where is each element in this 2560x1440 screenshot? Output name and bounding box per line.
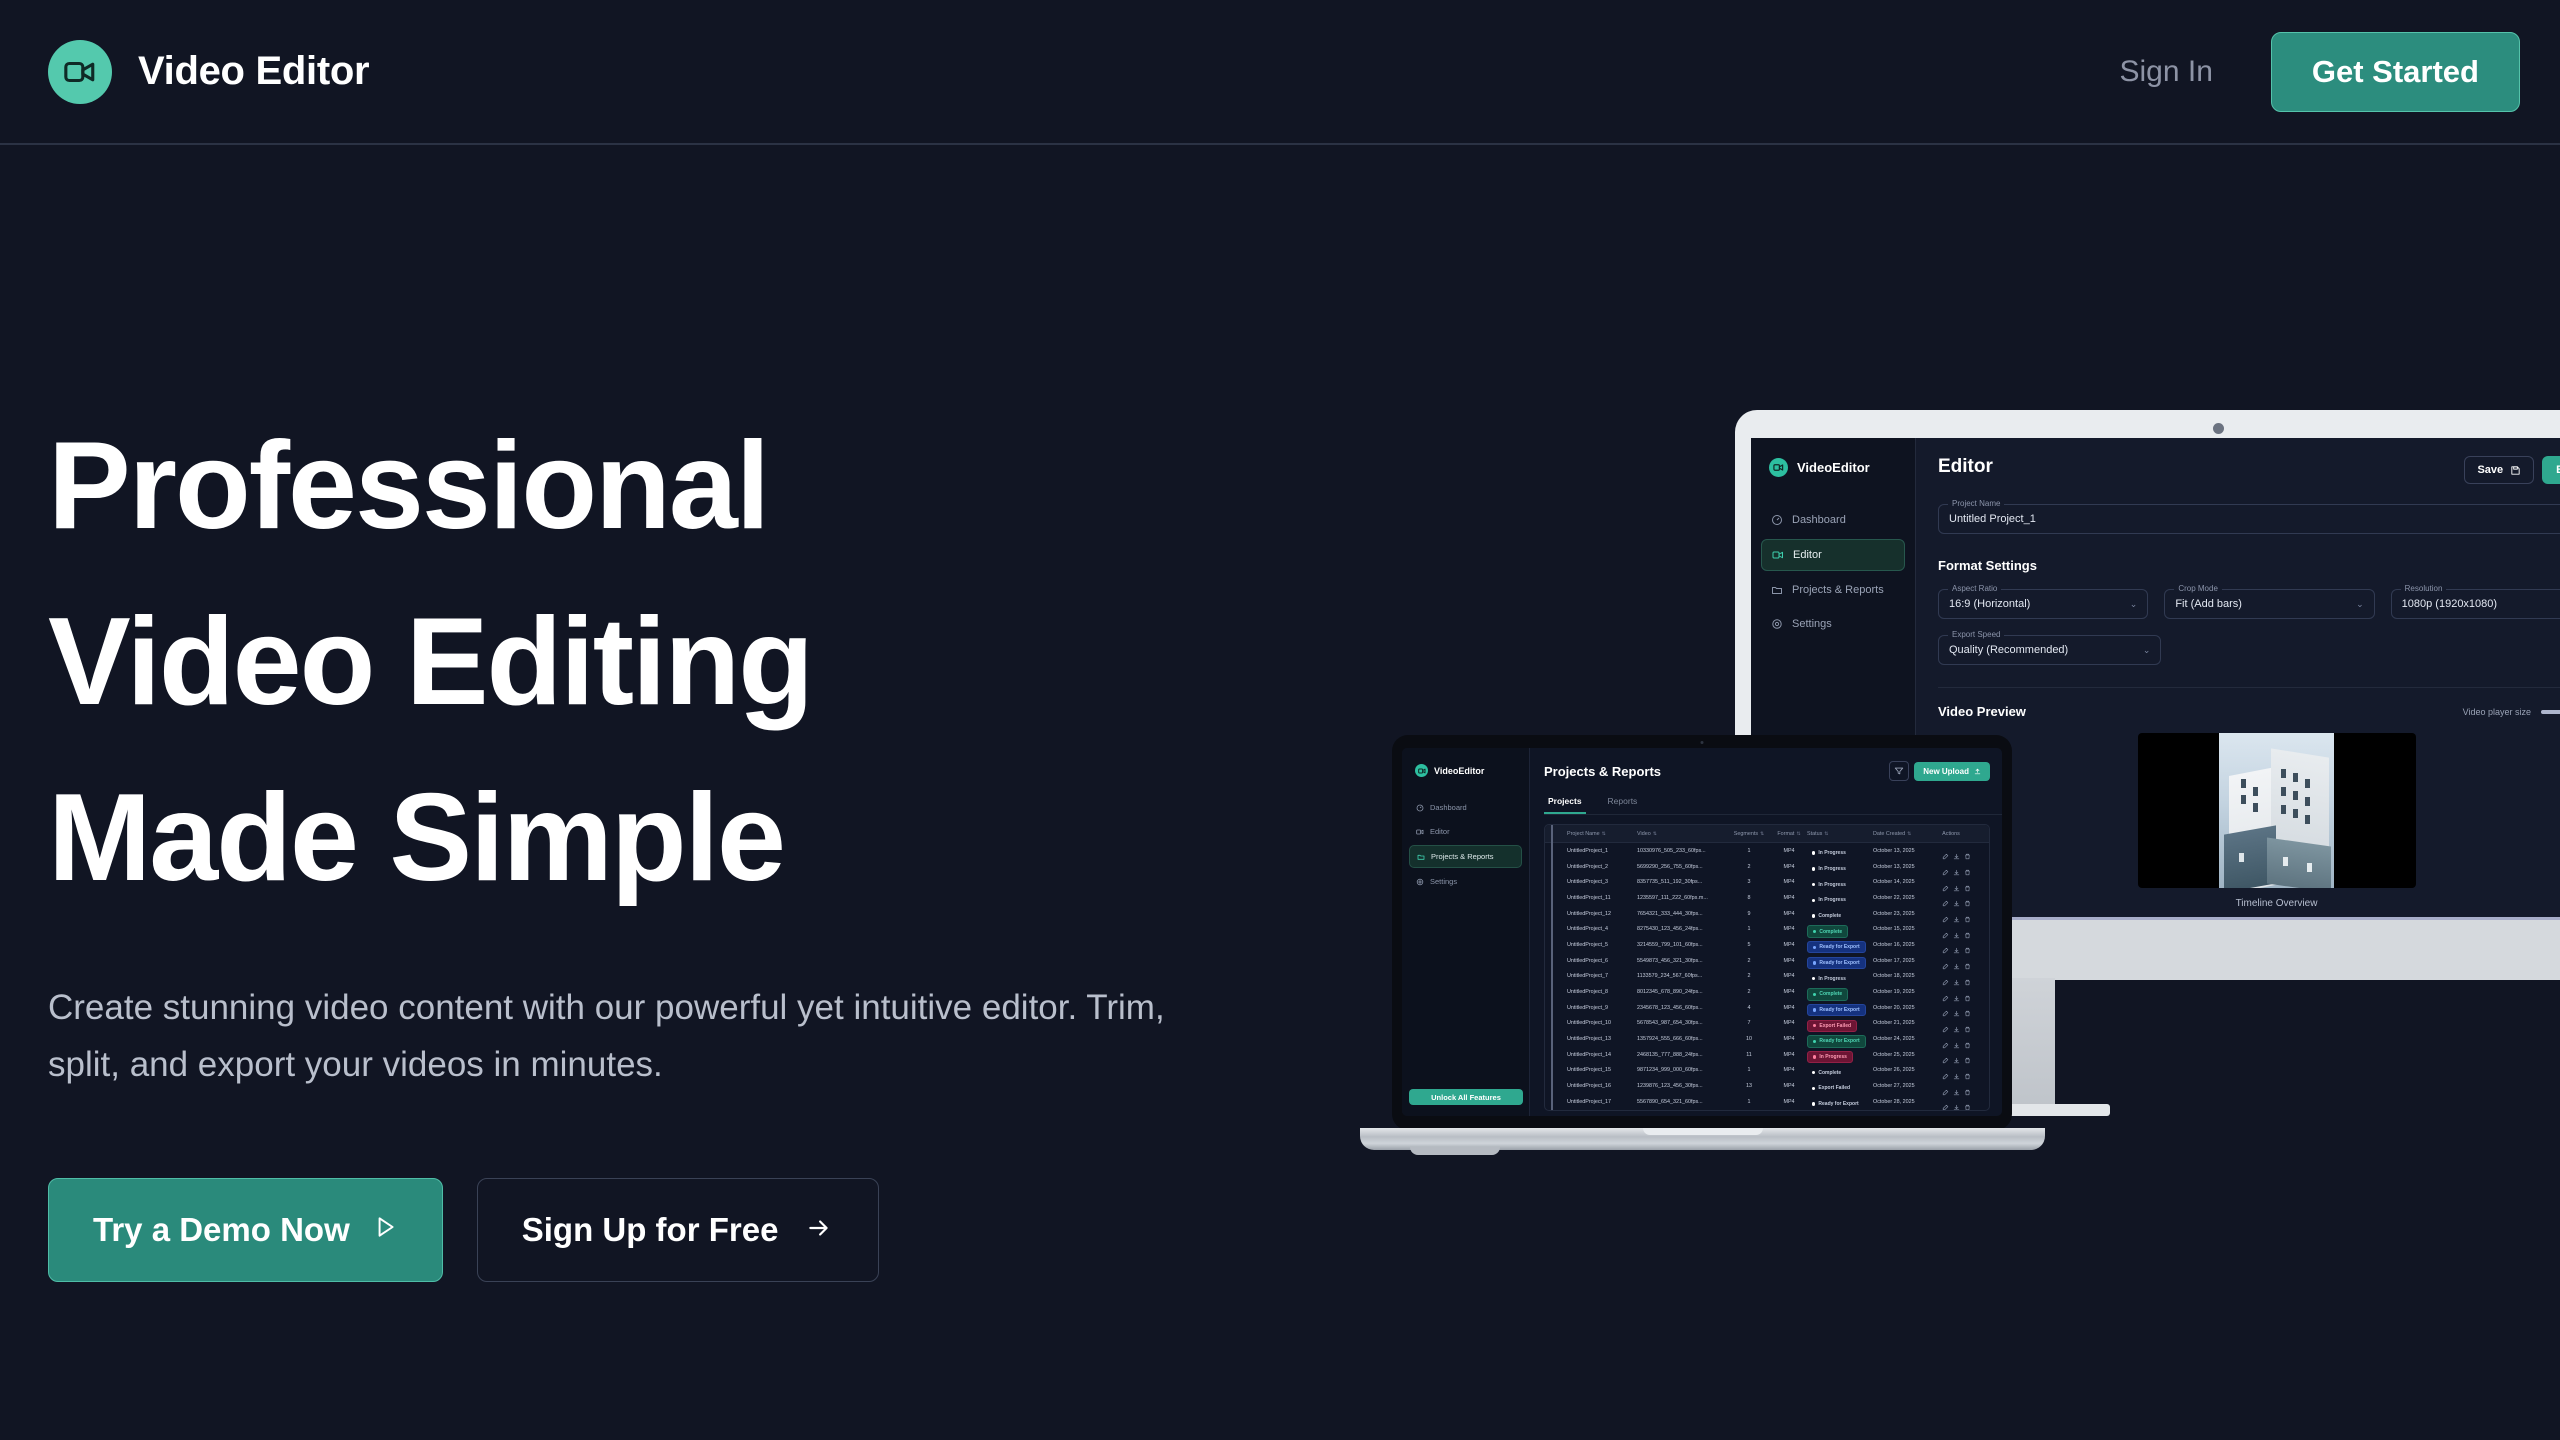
gauge-icon — [1416, 804, 1424, 812]
sidebar-label: Settings — [1792, 618, 1832, 630]
trash-icon[interactable] — [1964, 957, 1971, 964]
cell-actions — [1931, 926, 1971, 933]
aspect-ratio-select[interactable]: Aspect Ratio 16:9 (Horizontal) ⌄ — [1938, 589, 2148, 619]
chevron-down-icon: ⌄ — [2356, 599, 2364, 610]
sidebar-label: Editor — [1430, 827, 1450, 836]
cell-actions — [1931, 1083, 1971, 1090]
cell-format: MP4 — [1771, 989, 1807, 995]
table-row[interactable]: UntitledProject_111235597_111_222_60fps.… — [1545, 890, 1989, 906]
edit-icon[interactable] — [1942, 989, 1949, 996]
cell-date-created: October 27, 2025 — [1873, 1083, 1931, 1089]
edit-icon[interactable] — [1942, 863, 1949, 870]
new-upload-button[interactable]: New Upload — [1914, 762, 1990, 781]
trash-icon[interactable] — [1964, 973, 1971, 980]
trash-icon[interactable] — [1964, 879, 1971, 886]
table-row[interactable]: UntitledProject_38357735_511_192_30fps..… — [1545, 874, 1989, 890]
laptop-sidebar: VideoEditor Dashboard Editor — [1402, 748, 1530, 1116]
cell-format: MP4 — [1771, 1036, 1807, 1042]
edit-icon[interactable] — [1942, 847, 1949, 854]
edit-icon[interactable] — [1942, 894, 1949, 901]
sidebar-item-projects-reports[interactable]: Projects & Reports — [1409, 845, 1522, 868]
cell-segments: 13 — [1727, 1083, 1771, 1089]
cell-project-name: UntitledProject_1 — [1567, 848, 1637, 854]
trash-icon[interactable] — [1964, 1083, 1971, 1090]
cell-actions — [1931, 1098, 1971, 1105]
trash-icon[interactable] — [1964, 941, 1971, 948]
sort-icon[interactable]: ⇅ — [1760, 831, 1764, 837]
laptop-notch — [1667, 738, 1737, 747]
download-icon[interactable] — [1953, 863, 1960, 870]
cell-format: MP4 — [1771, 942, 1807, 948]
tab-reports[interactable]: Reports — [1604, 791, 1642, 814]
edit-icon[interactable] — [1942, 957, 1949, 964]
cell-project-name: UntitledProject_2 — [1567, 864, 1637, 870]
save-button[interactable]: Save — [2464, 456, 2534, 484]
sort-icon[interactable]: ⇅ — [1653, 831, 1657, 837]
sidebar-item-settings[interactable]: Settings — [1761, 609, 1905, 639]
cell-segments: 2 — [1727, 989, 1771, 995]
video-player[interactable] — [2138, 733, 2416, 888]
cell-format: MP4 — [1771, 848, 1807, 854]
cell-format: MP4 — [1771, 973, 1807, 979]
cell-format: MP4 — [1771, 1005, 1807, 1011]
cell-video: 1239876_123_456_30fps... — [1637, 1083, 1727, 1089]
download-icon[interactable] — [1953, 926, 1960, 933]
cell-project-name: UntitledProject_14 — [1567, 1052, 1637, 1058]
save-label: Save — [2477, 464, 2503, 476]
table-row[interactable]: UntitledProject_105678543_987_654_30fps.… — [1545, 1016, 1989, 1032]
cell-actions — [1931, 847, 1971, 854]
edit-icon[interactable] — [1942, 1098, 1949, 1105]
cell-segments: 9 — [1727, 911, 1771, 917]
chevron-down-icon: ⌄ — [2130, 599, 2138, 610]
cell-format: MP4 — [1771, 1083, 1807, 1089]
table-row[interactable]: UntitledProject_159871234_999_000_60fps.… — [1545, 1063, 1989, 1079]
table-row[interactable]: UntitledProject_53214559_799_101_60fps..… — [1545, 937, 1989, 953]
resolution-label: Resolution — [2401, 584, 2447, 593]
trash-icon[interactable] — [1964, 1067, 1971, 1074]
cell-date-created: October 24, 2025 — [1873, 1036, 1931, 1042]
cell-format: MP4 — [1771, 911, 1807, 917]
video-icon — [1416, 828, 1424, 836]
try-demo-label: Try a Demo Now — [93, 1211, 350, 1249]
edit-icon[interactable] — [1942, 910, 1949, 917]
table-row[interactable]: UntitledProject_48275430_123_456_24fps..… — [1545, 921, 1989, 937]
header-actions: Sign In Get Started — [2119, 32, 2520, 112]
hero-title-line-3: Made Simple — [48, 750, 1168, 926]
download-icon[interactable] — [1953, 1098, 1960, 1105]
cell-format: MP4 — [1771, 1020, 1807, 1026]
edit-icon[interactable] — [1942, 1067, 1949, 1074]
brand-logo[interactable]: Video Editor — [48, 40, 369, 104]
cell-video: 8012345_678_890_24fps... — [1637, 989, 1727, 995]
trash-icon[interactable] — [1964, 863, 1971, 870]
desktop-topbar: Editor Save Export — [1938, 456, 2560, 484]
sidebar-item-settings[interactable]: Settings — [1409, 871, 1522, 892]
table-row[interactable]: UntitledProject_110330976_505_233_60fps.… — [1545, 843, 1989, 859]
cell-date-created: October 28, 2025 — [1873, 1099, 1931, 1105]
cell-format: MP4 — [1771, 879, 1807, 885]
edit-icon[interactable] — [1942, 1051, 1949, 1058]
sign-up-label: Sign Up for Free — [522, 1211, 779, 1249]
edit-icon[interactable] — [1942, 1020, 1949, 1027]
cell-project-name: UntitledProject_7 — [1567, 973, 1637, 979]
crop-mode-label: Crop Mode — [2174, 584, 2222, 593]
cell-actions — [1931, 957, 1971, 964]
laptop-main: Projects & Reports New Upload — [1530, 748, 2002, 1116]
trash-icon[interactable] — [1964, 1036, 1971, 1043]
cell-segments: 2 — [1727, 958, 1771, 964]
cell-date-created: October 26, 2025 — [1873, 1067, 1931, 1073]
cell-project-name: UntitledProject_13 — [1567, 1036, 1637, 1042]
laptop-tabs: Projects Reports — [1544, 791, 2002, 815]
cell-actions — [1931, 1067, 1971, 1074]
cell-segments: 11 — [1727, 1052, 1771, 1058]
cell-video: 3214559_799_101_60fps... — [1637, 942, 1727, 948]
cell-segments: 1 — [1727, 926, 1771, 932]
table-row[interactable]: UntitledProject_92345678_123_456_60fps..… — [1545, 1000, 1989, 1016]
gear-icon — [1771, 618, 1783, 630]
column-header-date-created: Date Created⇅ — [1873, 831, 1931, 837]
tab-projects[interactable]: Projects — [1544, 791, 1586, 814]
project-name-value: Untitled Project_1 — [1949, 513, 2036, 525]
format-field-row-1: Aspect Ratio 16:9 (Horizontal) ⌄ Crop Mo… — [1938, 589, 2560, 619]
cell-date-created: October 16, 2025 — [1873, 942, 1931, 948]
cell-video: 1133579_234_567_60fps... — [1637, 973, 1727, 979]
download-icon[interactable] — [1953, 1036, 1960, 1043]
cell-video: 5699290_256_755_60fps... — [1637, 864, 1727, 870]
slider-track[interactable] — [2541, 710, 2560, 714]
sort-icon[interactable]: ⇅ — [1824, 831, 1828, 837]
table-row[interactable]: UntitledProject_65549873_456_321_30fps..… — [1545, 953, 1989, 969]
laptop-nav: Dashboard Editor Projects & Reports — [1402, 797, 1529, 892]
column-header-status: Status⇅ — [1807, 831, 1873, 837]
cell-format: MP4 — [1771, 926, 1807, 932]
desktop-brand: VideoEditor — [1751, 458, 1915, 477]
cell-actions — [1931, 910, 1971, 917]
cell-segments: 1 — [1727, 848, 1771, 854]
download-icon[interactable] — [1953, 989, 1960, 996]
project-name-label: Project Name — [1948, 499, 2004, 508]
sidebar-label: Dashboard — [1430, 803, 1467, 812]
sidebar-label: Editor — [1793, 549, 1822, 561]
cell-actions — [1931, 1020, 1971, 1027]
select-all-checkbox[interactable] — [1551, 825, 1567, 843]
trash-icon[interactable] — [1964, 1051, 1971, 1058]
video-thumbnail — [2219, 733, 2334, 888]
cell-date-created: October 19, 2025 — [1873, 989, 1931, 995]
cell-date-created: October 18, 2025 — [1873, 973, 1931, 979]
video-preview-header: Video Preview Video player size — [1938, 704, 2560, 719]
cell-segments: 7 — [1727, 1020, 1771, 1026]
column-header-segments: Segments⇅ — [1727, 831, 1771, 837]
arrow-right-icon — [804, 1211, 834, 1249]
cell-format: MP4 — [1771, 958, 1807, 964]
export-button[interactable]: Export — [2542, 456, 2560, 484]
cell-format: MP4 — [1771, 1067, 1807, 1073]
cell-actions — [1931, 1004, 1971, 1011]
cell-video: 5549873_456_321_30fps... — [1637, 958, 1727, 964]
trash-icon[interactable] — [1964, 989, 1971, 996]
floppy-disk-icon — [2510, 465, 2521, 476]
cell-date-created: October 23, 2025 — [1873, 911, 1931, 917]
format-settings-title: Format Settings — [1938, 558, 2560, 573]
hero-title-line-2: Video Editing — [48, 574, 1168, 750]
product-mockups: VideoEditor Dashboard Editor Projects & … — [1360, 390, 2560, 1240]
cell-video: 1357924_555_666_60fps... — [1637, 1036, 1727, 1042]
cell-video: 2468135_777_888_24fps... — [1637, 1052, 1727, 1058]
cell-project-name: UntitledProject_9 — [1567, 1005, 1637, 1011]
download-icon[interactable] — [1953, 1051, 1960, 1058]
project-name-field-wrap: Project Name Untitled Project_1 — [1938, 504, 2560, 534]
cell-video: 8357735_511_192_30fps... — [1637, 879, 1727, 885]
gear-icon — [1416, 878, 1424, 886]
edit-icon[interactable] — [1942, 1004, 1949, 1011]
cell-project-name: UntitledProject_5 — [1567, 942, 1637, 948]
export-speed-label: Export Speed — [1948, 630, 2004, 639]
column-header-actions: Actions — [1931, 831, 1971, 837]
video-camera-icon — [1769, 458, 1788, 477]
video-player-size-slider[interactable]: Video player size — [2463, 707, 2560, 717]
cell-date-created: October 14, 2025 — [1873, 879, 1931, 885]
download-icon[interactable] — [1953, 941, 1960, 948]
folder-icon — [1771, 584, 1783, 596]
project-name-input[interactable]: Project Name Untitled Project_1 — [1938, 504, 2560, 534]
table-row[interactable]: UntitledProject_142468135_777_888_24fps.… — [1545, 1047, 1989, 1063]
cell-project-name: UntitledProject_3 — [1567, 879, 1637, 885]
cell-actions — [1931, 1036, 1971, 1043]
cell-project-name: UntitledProject_10 — [1567, 1020, 1637, 1026]
sidebar-label: Projects & Reports — [1792, 584, 1884, 596]
export-speed-select[interactable]: Export Speed Quality (Recommended) ⌄ — [1938, 635, 2161, 665]
cell-project-name: UntitledProject_17 — [1567, 1099, 1637, 1105]
cell-actions — [1931, 863, 1971, 870]
download-icon[interactable] — [1953, 973, 1960, 980]
try-demo-button[interactable]: Try a Demo Now — [48, 1178, 443, 1282]
cell-segments: 1 — [1727, 1099, 1771, 1105]
cell-actions — [1931, 989, 1971, 996]
aspect-ratio-value: 16:9 (Horizontal) — [1949, 598, 2030, 610]
cell-project-name: UntitledProject_4 — [1567, 926, 1637, 932]
sidebar-item-projects-reports[interactable]: Projects & Reports — [1761, 575, 1905, 605]
laptop-app-screen: VideoEditor Dashboard Editor — [1402, 748, 2002, 1116]
cell-video: 7654321_333_444_30fps... — [1637, 911, 1727, 917]
cell-video: 10330976_505_233_60fps... — [1637, 848, 1727, 854]
crop-mode-select[interactable]: Crop Mode Fit (Add bars) ⌄ — [2164, 589, 2374, 619]
sort-icon[interactable]: ⇅ — [1796, 831, 1800, 837]
cell-date-created: October 20, 2025 — [1873, 1005, 1931, 1011]
download-icon[interactable] — [1953, 957, 1960, 964]
webcam-icon — [1701, 741, 1704, 744]
table-header-row: Project Name⇅ Video⇅ Segments⇅ Format⇅ S… — [1545, 825, 1989, 843]
table-row[interactable]: UntitledProject_131357924_555_666_60fps.… — [1545, 1031, 1989, 1047]
page-title: Professional Video Editing Made Simple — [48, 398, 1168, 926]
cell-actions — [1931, 879, 1971, 886]
format-field-row-2: Export Speed Quality (Recommended) ⌄ — [1938, 635, 2161, 665]
cell-date-created: October 22, 2025 — [1873, 895, 1931, 901]
cell-date-created: October 17, 2025 — [1873, 958, 1931, 964]
trash-icon[interactable] — [1964, 926, 1971, 933]
desktop-nav: Dashboard Editor Projects & Reports Sett… — [1751, 505, 1915, 639]
cell-format: MP4 — [1771, 1052, 1807, 1058]
edit-icon[interactable] — [1942, 1083, 1949, 1090]
cell-date-created: October 13, 2025 — [1873, 864, 1931, 870]
sort-icon[interactable]: ⇅ — [1907, 831, 1911, 837]
download-icon[interactable] — [1953, 879, 1960, 886]
sidebar-item-dashboard[interactable]: Dashboard — [1761, 505, 1905, 535]
resolution-select[interactable]: Resolution 1080p (1920x1080) ⌄ — [2391, 589, 2560, 619]
download-icon[interactable] — [1953, 1020, 1960, 1027]
row-checkbox[interactable] — [1551, 1093, 1567, 1111]
building-shape — [2267, 838, 2331, 888]
hero-title-line-1: Professional — [48, 398, 1168, 574]
column-header-video: Video⇅ — [1637, 831, 1727, 837]
table-row[interactable]: UntitledProject_161239876_123_456_30fps.… — [1545, 1078, 1989, 1094]
trash-icon[interactable] — [1964, 847, 1971, 854]
aspect-ratio-label: Aspect Ratio — [1948, 584, 2001, 593]
folder-icon — [1417, 853, 1425, 861]
get-started-button[interactable]: Get Started — [2271, 32, 2520, 112]
gauge-icon — [1771, 514, 1783, 526]
video-preview-title: Video Preview — [1938, 704, 2026, 719]
cell-segments: 8 — [1727, 895, 1771, 901]
trash-icon[interactable] — [1964, 910, 1971, 917]
column-header-project-name: Project Name⇅ — [1567, 831, 1637, 837]
edit-icon[interactable] — [1942, 941, 1949, 948]
laptop-foot — [1410, 1147, 1500, 1155]
sidebar-item-editor[interactable]: Editor — [1761, 539, 1905, 571]
upload-icon — [1974, 768, 1981, 775]
cell-date-created: October 21, 2025 — [1873, 1020, 1931, 1026]
webcam-icon — [2213, 423, 2224, 434]
table-row[interactable]: UntitledProject_88012345_678_890_24fps..… — [1545, 984, 1989, 1000]
unlock-all-features-button[interactable]: Unlock All Features — [1409, 1089, 1523, 1105]
sidebar-item-editor[interactable]: Editor — [1409, 821, 1522, 842]
cell-date-created: October 15, 2025 — [1873, 926, 1931, 932]
download-icon[interactable] — [1953, 910, 1960, 917]
table-body: UntitledProject_110330976_505_233_60fps.… — [1545, 843, 1989, 1110]
video-camera-icon — [48, 40, 112, 104]
new-upload-label: New Upload — [1923, 767, 1969, 776]
cell-segments: 10 — [1727, 1036, 1771, 1042]
hero-cta-group: Try a Demo Now Sign Up for Free — [48, 1178, 1168, 1282]
cell-project-name: UntitledProject_11 — [1567, 895, 1637, 901]
download-icon[interactable] — [1953, 1004, 1960, 1011]
cell-actions — [1931, 973, 1971, 980]
brand-name: Video Editor — [138, 49, 369, 94]
projects-page-title: Projects & Reports — [1544, 764, 1661, 779]
cell-project-name: UntitledProject_12 — [1567, 911, 1637, 917]
crop-mode-value: Fit (Add bars) — [2175, 598, 2242, 610]
trash-icon[interactable] — [1964, 1098, 1971, 1105]
sidebar-item-dashboard[interactable]: Dashboard — [1409, 797, 1522, 818]
column-header-format: Format⇅ — [1771, 831, 1807, 837]
table-row[interactable]: UntitledProject_71133579_234_567_60fps..… — [1545, 969, 1989, 985]
export-label: Export — [2556, 464, 2560, 476]
projects-table: Project Name⇅ Video⇅ Segments⇅ Format⇅ S… — [1544, 824, 1990, 1111]
cell-project-name: UntitledProject_6 — [1567, 958, 1637, 964]
cell-video: 9871234_999_000_60fps... — [1637, 1067, 1727, 1073]
cell-date-created: October 25, 2025 — [1873, 1052, 1931, 1058]
cell-video: 5678543_987_654_30fps... — [1637, 1020, 1727, 1026]
hero-section: Professional Video Editing Made Simple C… — [48, 398, 1168, 1282]
cell-actions — [1931, 1051, 1971, 1058]
player-size-label: Video player size — [2463, 707, 2531, 717]
cell-project-name: UntitledProject_16 — [1567, 1083, 1637, 1089]
resolution-value: 1080p (1920x1080) — [2402, 598, 2497, 610]
divider — [1938, 687, 2560, 688]
laptop-header: Projects & Reports New Upload — [1544, 761, 2002, 781]
export-speed-value: Quality (Recommended) — [1949, 644, 2068, 656]
cell-video: 5567890_654_321_60fps... — [1637, 1099, 1727, 1105]
cell-status: Ready for Export — [1807, 1093, 1873, 1111]
chevron-down-icon: ⌄ — [2143, 645, 2151, 656]
trash-icon[interactable] — [1964, 1004, 1971, 1011]
cell-actions — [1931, 941, 1971, 948]
edit-icon[interactable] — [1942, 1036, 1949, 1043]
cell-video: 8275430_123_456_24fps... — [1637, 926, 1727, 932]
cell-format: MP4 — [1771, 864, 1807, 870]
funnel-icon[interactable] — [1889, 761, 1909, 781]
edit-icon[interactable] — [1942, 926, 1949, 933]
trash-icon[interactable] — [1964, 1020, 1971, 1027]
laptop-base-notch — [1643, 1128, 1763, 1135]
cell-segments: 2 — [1727, 973, 1771, 979]
table-row[interactable]: UntitledProject_175567890_654_321_60fps.… — [1545, 1094, 1989, 1110]
cell-segments: 5 — [1727, 942, 1771, 948]
video-icon — [1772, 549, 1784, 561]
laptop-brand-name: VideoEditor — [1434, 766, 1484, 776]
site-header: Video Editor Sign In Get Started — [0, 0, 2560, 145]
desktop-brand-name: VideoEditor — [1797, 460, 1870, 475]
cell-video: 1235597_111_222_60fps.m... — [1637, 895, 1727, 901]
laptop-brand: VideoEditor — [1402, 764, 1529, 777]
cell-video: 2345678_123_456_60fps... — [1637, 1005, 1727, 1011]
cell-segments: 4 — [1727, 1005, 1771, 1011]
cell-date-created: October 13, 2025 — [1873, 848, 1931, 854]
laptop-mockup: VideoEditor Dashboard Editor — [1360, 735, 2045, 1180]
cell-segments: 3 — [1727, 879, 1771, 885]
cell-segments: 2 — [1727, 864, 1771, 870]
table-row[interactable]: UntitledProject_127654321_333_444_30fps.… — [1545, 906, 1989, 922]
download-icon[interactable] — [1953, 1067, 1960, 1074]
edit-icon[interactable] — [1942, 879, 1949, 886]
sign-in-button[interactable]: Sign In — [2119, 55, 2212, 89]
sidebar-label: Settings — [1430, 877, 1457, 886]
table-row[interactable]: UntitledProject_25699290_256_755_60fps..… — [1545, 859, 1989, 875]
cell-format: MP4 — [1771, 895, 1807, 901]
download-icon[interactable] — [1953, 847, 1960, 854]
laptop-header-actions: New Upload — [1889, 761, 1990, 781]
editor-actions: Save Export — [2464, 456, 2560, 484]
sidebar-label: Dashboard — [1792, 514, 1846, 526]
trash-icon[interactable] — [1964, 894, 1971, 901]
laptop-lid: VideoEditor Dashboard Editor — [1392, 735, 2012, 1130]
sort-icon[interactable]: ⇅ — [1602, 831, 1606, 837]
edit-icon[interactable] — [1942, 973, 1949, 980]
download-icon[interactable] — [1953, 1083, 1960, 1090]
hero-subtitle: Create stunning video content with our p… — [48, 980, 1168, 1093]
play-triangle-icon — [372, 1211, 398, 1249]
sidebar-label: Projects & Reports — [1431, 852, 1494, 861]
video-camera-icon — [1415, 764, 1428, 777]
cell-project-name: UntitledProject_8 — [1567, 989, 1637, 995]
sign-up-button[interactable]: Sign Up for Free — [477, 1178, 880, 1282]
cell-project-name: UntitledProject_15 — [1567, 1067, 1637, 1073]
cell-segments: 1 — [1727, 1067, 1771, 1073]
status-badge: Ready for Export — [1807, 1099, 1864, 1109]
download-icon[interactable] — [1953, 894, 1960, 901]
